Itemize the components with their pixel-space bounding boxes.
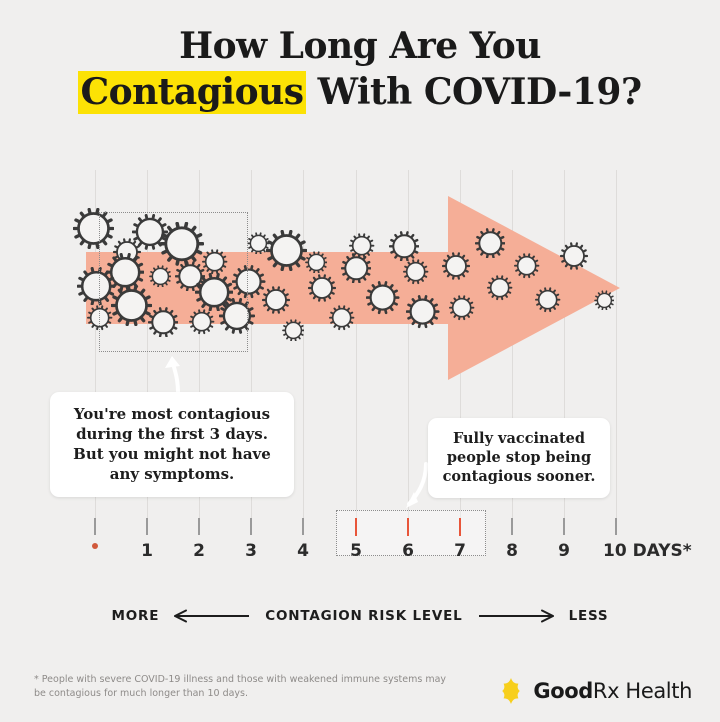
- legend-more-label: MORE: [112, 608, 160, 624]
- axis-label-day-1: 1: [141, 541, 153, 561]
- axis-label-day-9: 9: [558, 541, 570, 561]
- contagion-risk-legend: MORE CONTAGION RISK LEVEL LESS: [0, 602, 720, 630]
- axis-tick-day-3: [250, 518, 252, 535]
- virus-particle: [329, 305, 354, 330]
- title-line-2: Contagious With COVID-19?: [0, 70, 720, 114]
- arrow-left-icon: [173, 609, 251, 623]
- virus-particle: [535, 287, 560, 312]
- title-line-2-rest: With COVID-19?: [306, 71, 642, 113]
- title-highlight: Contagious: [78, 71, 305, 114]
- axis-label-day-3: 3: [245, 541, 257, 561]
- title-line-1: How Long Are You: [0, 26, 720, 66]
- legend-less-label: LESS: [569, 608, 609, 624]
- virus-particle: [475, 228, 506, 259]
- brand-logo: GoodRx Health: [498, 678, 692, 704]
- arrow-right-icon: [477, 609, 555, 623]
- axis-tick-day-6: [407, 518, 409, 536]
- virus-particle: [449, 295, 474, 320]
- axis-tick-day-4: [302, 518, 304, 535]
- virus-particle: [406, 295, 439, 328]
- axis-tick-day-2: [198, 518, 200, 535]
- axis-tick-day-1: [146, 518, 148, 535]
- axis-start-dot: [92, 543, 98, 549]
- footnote: * People with severe COVID-19 illness an…: [34, 673, 454, 701]
- virus-particle: [366, 281, 399, 314]
- virus-particle: [403, 259, 428, 284]
- virus-particle: [282, 319, 305, 342]
- axis-label-day-8: 8: [506, 541, 518, 561]
- axis-tick-day-9: [563, 518, 565, 535]
- gridline-day-4: [303, 170, 304, 530]
- virus-particle: [560, 242, 588, 270]
- axis-tick-day-5: [355, 518, 357, 536]
- brand-rx: Rx: [593, 679, 619, 703]
- axis-label-day-4: 4: [297, 541, 309, 561]
- brand-name: GoodRx Health: [533, 679, 692, 703]
- virus-particle: [442, 252, 470, 280]
- gridline-day-5: [356, 170, 357, 530]
- axis-tick-day-8: [511, 518, 513, 535]
- early-callout-pointer-icon: [158, 352, 198, 394]
- contagion-arrow-head: [448, 196, 620, 380]
- axis-label-day-10: 10 DAYS*: [603, 541, 692, 561]
- axis-label-day-2: 2: [193, 541, 205, 561]
- virus-particle: [305, 251, 328, 274]
- virus-particle: [594, 290, 615, 311]
- goodrx-cross-icon: [498, 678, 524, 704]
- axis-tick-day-10: [615, 518, 617, 535]
- early-days-highlight-box: [99, 212, 248, 352]
- axis-label-day-5: 5: [350, 541, 362, 561]
- virus-particle: [266, 230, 307, 271]
- virus-particle: [247, 232, 270, 255]
- virus-particle: [349, 233, 374, 258]
- virus-particle: [389, 231, 420, 262]
- axis-label-day-7: 7: [454, 541, 466, 561]
- virus-particle: [262, 286, 290, 314]
- virus-particle: [514, 253, 539, 278]
- axis-tick-day-7: [459, 518, 461, 536]
- legend-center-label: CONTAGION RISK LEVEL: [265, 608, 462, 624]
- brand-good: Good: [533, 679, 593, 703]
- callout-vaccinated: Fully vaccinated people stop being conta…: [428, 418, 610, 498]
- virus-particle: [308, 274, 336, 302]
- brand-health: Health: [619, 679, 692, 703]
- virus-particle: [487, 275, 512, 300]
- page-title: How Long Are You Contagious With COVID-1…: [0, 26, 720, 114]
- infographic-root: How Long Are You Contagious With COVID-1…: [0, 0, 720, 722]
- callout-most-contagious: You're most contagious during the first …: [50, 392, 294, 497]
- days-axis: 12345678910 DAYS*: [0, 505, 720, 565]
- axis-tick-day-0: [94, 518, 96, 535]
- axis-label-day-6: 6: [402, 541, 414, 561]
